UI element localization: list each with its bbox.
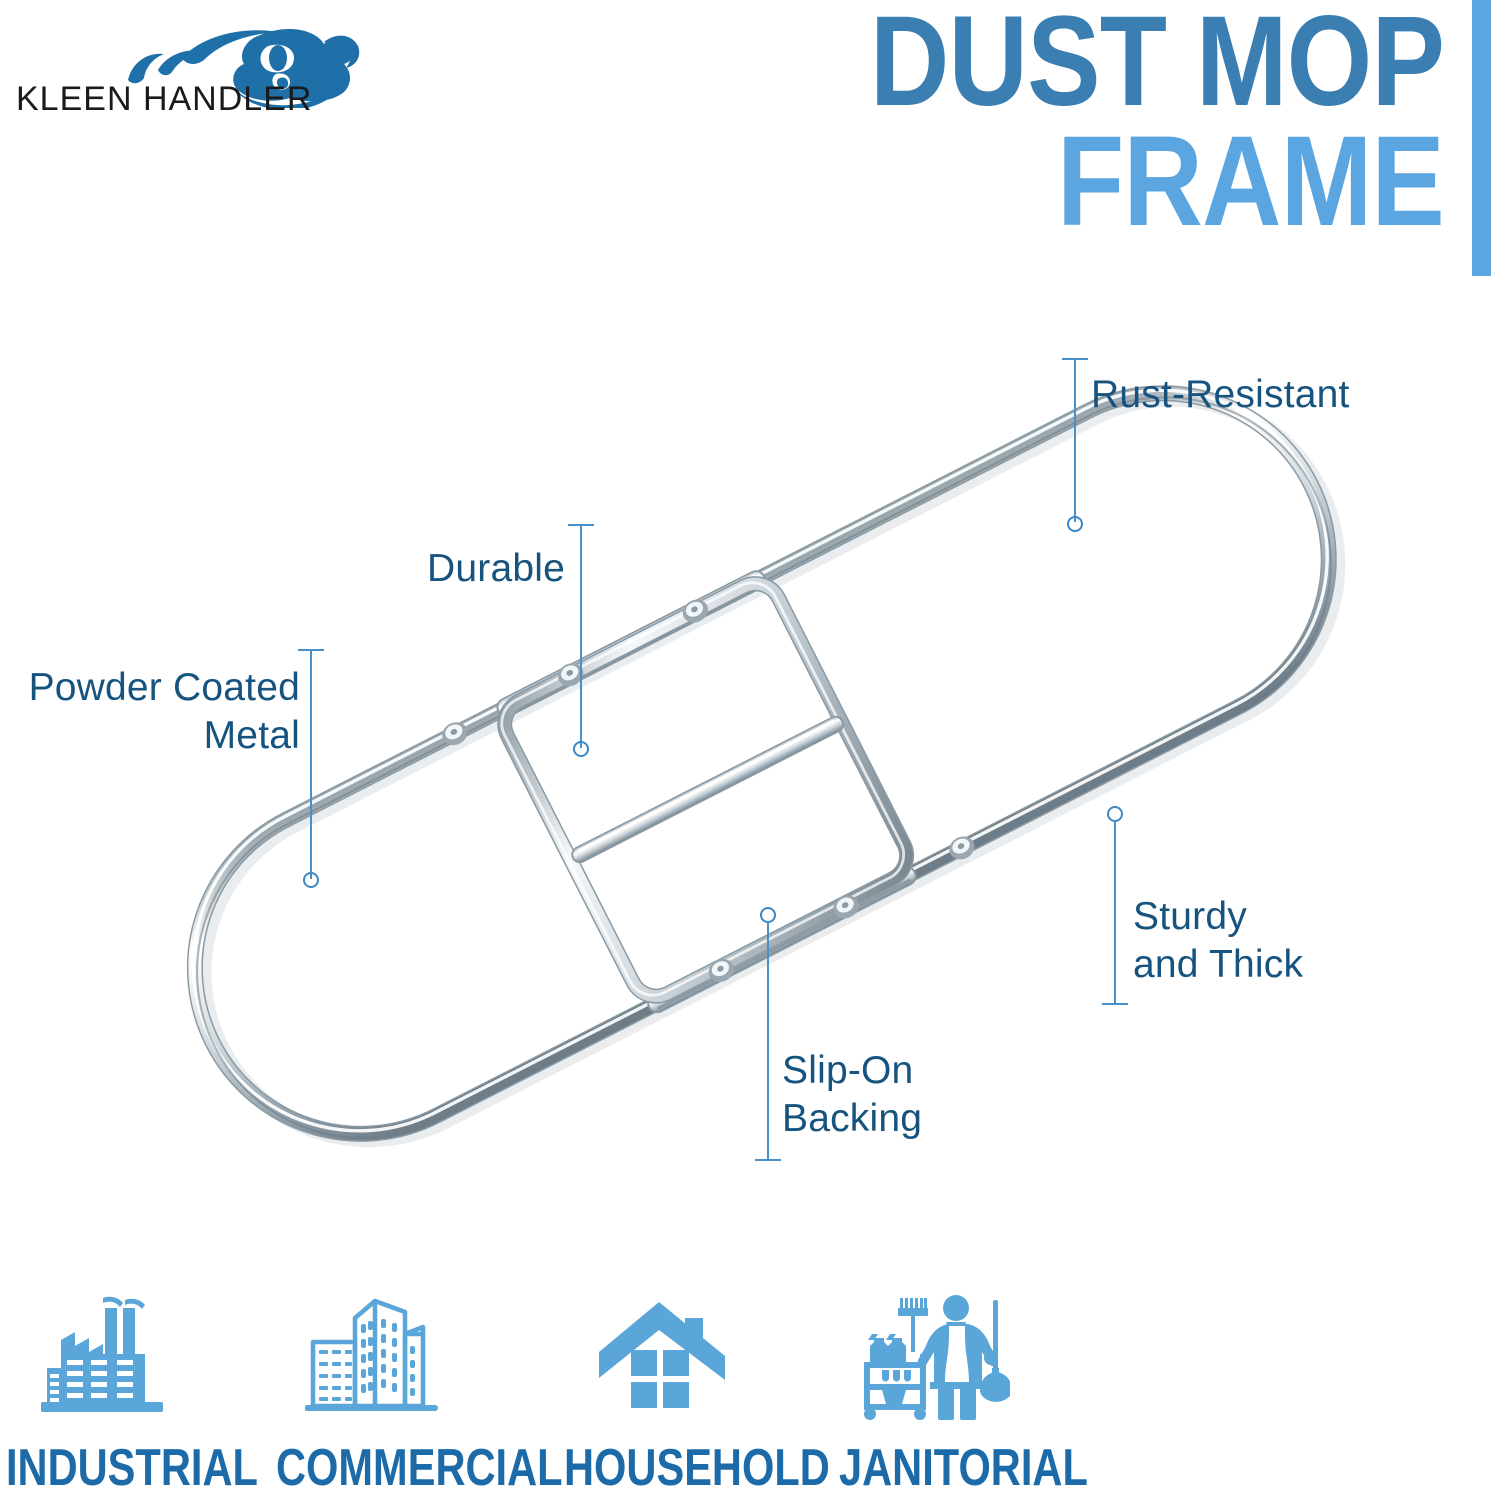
leader-dot-durable bbox=[573, 741, 589, 757]
callout-label-durable: Durable bbox=[265, 545, 565, 593]
leader-line-durable bbox=[580, 525, 582, 748]
usecase-label-industrial: INDUSTRIAL bbox=[6, 1438, 198, 1498]
callout-label-rust-resistant: Rust-Resistant bbox=[1091, 371, 1491, 419]
house-icon bbox=[540, 1292, 780, 1422]
dust-mop-frame-illustration bbox=[0, 330, 1499, 1260]
title-line-2: FRAME bbox=[851, 122, 1444, 242]
callout-label-slip-on-backing: Slip-On Backing bbox=[782, 1047, 1112, 1142]
leader-line-slip-on-backing bbox=[767, 921, 769, 1160]
office-buildings-icon bbox=[252, 1292, 492, 1422]
product-infographic: KLEEN HANDLER DUST MOP FRAME bbox=[0, 0, 1499, 1500]
usecase-household: HOUSEHOLD bbox=[540, 1292, 780, 1498]
usecase-row: INDUSTRIAL bbox=[0, 1292, 1499, 1500]
usecase-janitorial: JANITORIAL bbox=[815, 1292, 1055, 1498]
usecase-label-household: HOUSEHOLD bbox=[564, 1438, 756, 1498]
usecase-commercial: COMMERCIAL bbox=[252, 1292, 492, 1498]
callout-label-sturdy-and-thick: Sturdy and Thick bbox=[1133, 893, 1473, 988]
janitor-with-cart-icon bbox=[815, 1292, 1055, 1422]
leader-cap-sturdy-and-thick bbox=[1102, 1003, 1128, 1005]
usecase-label-commercial: COMMERCIAL bbox=[276, 1438, 468, 1498]
brand-name: KLEEN HANDLER bbox=[16, 80, 312, 119]
title-accent-bar bbox=[1472, 0, 1491, 276]
leader-cap-slip-on-backing bbox=[755, 1159, 781, 1161]
usecase-label-janitorial: JANITORIAL bbox=[839, 1438, 1031, 1498]
leader-line-sturdy-and-thick bbox=[1114, 820, 1116, 1004]
leader-line-rust-resistant bbox=[1074, 359, 1076, 522]
factory-icon bbox=[0, 1292, 222, 1422]
leader-dot-rust-resistant bbox=[1067, 516, 1083, 532]
brand-logo: KLEEN HANDLER bbox=[8, 8, 388, 128]
page-title: DUST MOP FRAME bbox=[754, 2, 1444, 243]
callout-label-powder-coated-metal: Powder Coated Metal bbox=[0, 664, 300, 759]
product-image bbox=[0, 330, 1499, 1260]
usecase-industrial: INDUSTRIAL bbox=[0, 1292, 222, 1498]
title-line-1: DUST MOP bbox=[851, 2, 1444, 122]
leader-line-powder-coated-metal bbox=[310, 650, 312, 879]
leader-dot-powder-coated-metal bbox=[303, 872, 319, 888]
